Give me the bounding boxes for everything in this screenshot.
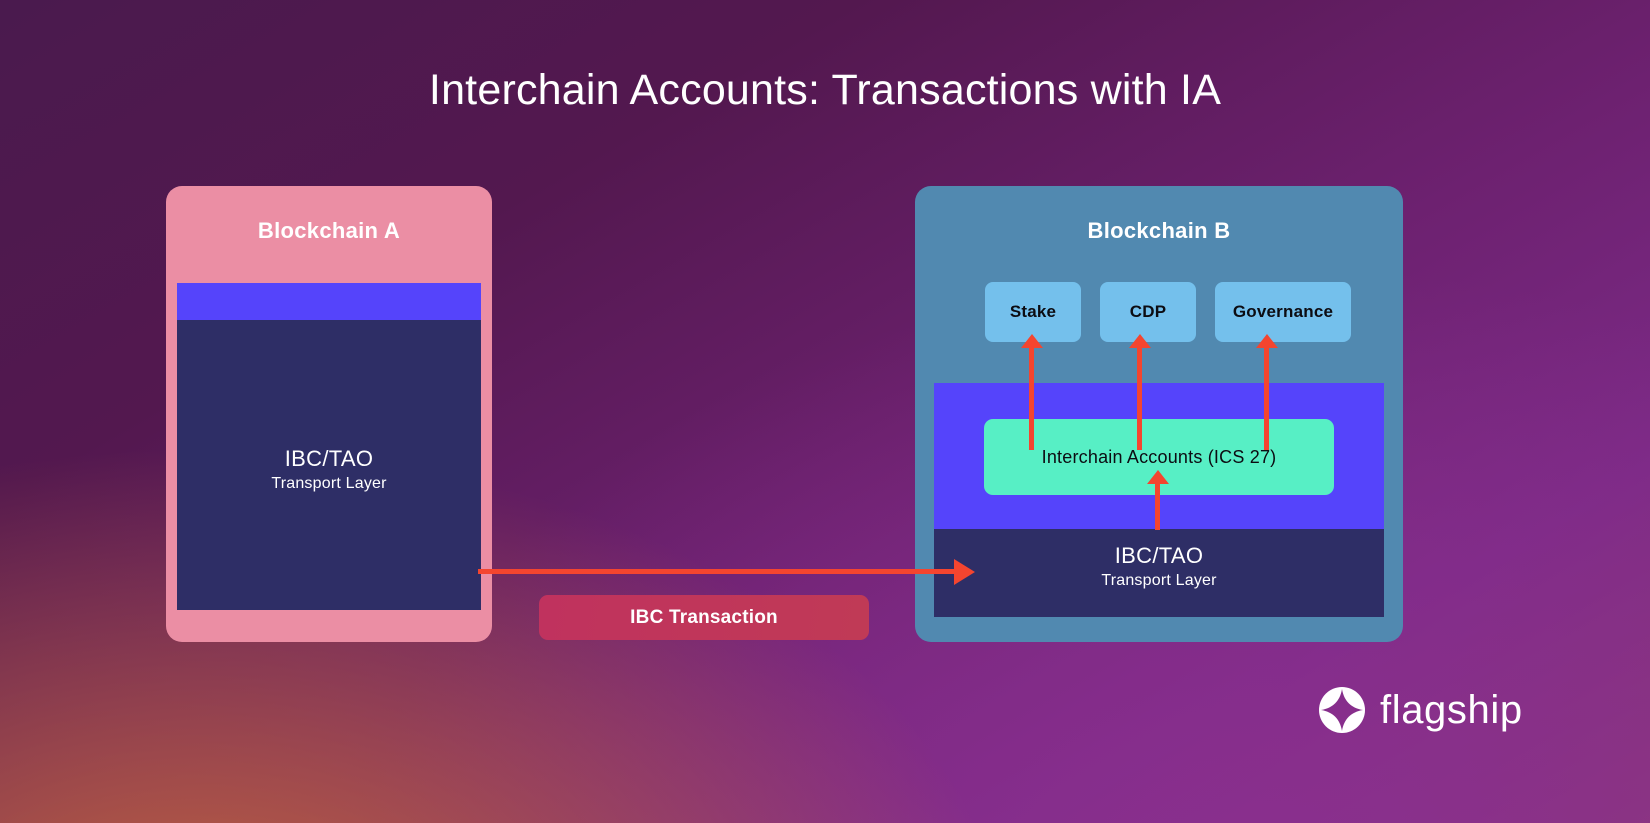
blockchain-a-card: Blockchain A IBC/TAO Transport Layer: [166, 186, 492, 642]
blockchain-a-transport-block: IBC/TAO Transport Layer: [177, 320, 481, 610]
blockchain-b-title: Blockchain B: [915, 218, 1403, 244]
blockchain-b-card: Blockchain B Stake CDP Governance Interc…: [915, 186, 1403, 642]
blockchain-a-title: Blockchain A: [166, 218, 492, 244]
diagram-canvas: Interchain Accounts: Transactions with I…: [0, 0, 1650, 823]
blockchain-a-transport-text: IBC/TAO Transport Layer: [177, 445, 481, 495]
arrow-transport-to-ics-icon: [1155, 483, 1160, 530]
module-governance[interactable]: Governance: [1215, 282, 1351, 342]
page-title: Interchain Accounts: Transactions with I…: [0, 66, 1650, 115]
arrow-ics-to-cdp-icon: [1137, 347, 1142, 450]
flagship-wordmark: flagship: [1380, 690, 1523, 730]
blockchain-b-transport-block: IBC/TAO Transport Layer: [934, 529, 1384, 617]
arrow-chain-a-to-chain-b-line-icon: [478, 569, 966, 574]
blockchain-b-transport-name: IBC/TAO: [934, 542, 1384, 570]
blockchain-b-transport-text: IBC/TAO Transport Layer: [934, 542, 1384, 592]
module-stake[interactable]: Stake: [985, 282, 1081, 342]
blockchain-a-transport-subtitle: Transport Layer: [177, 473, 481, 495]
module-cdp[interactable]: CDP: [1100, 282, 1196, 342]
blockchain-b-module-row: Stake CDP Governance: [934, 282, 1384, 342]
arrow-ics-to-stake-icon: [1029, 347, 1034, 450]
blockchain-a-ibc-layer: [177, 283, 481, 320]
ibc-transaction-label: IBC Transaction: [539, 595, 869, 640]
arrow-ics-to-governance-icon: [1264, 347, 1269, 450]
blockchain-a-transport-name: IBC/TAO: [177, 445, 481, 473]
flagship-logo[interactable]: flagship: [1318, 686, 1523, 734]
blockchain-b-transport-subtitle: Transport Layer: [934, 570, 1384, 592]
arrow-chain-a-to-chain-b-head-icon: [954, 559, 975, 585]
flagship-star-icon: [1318, 686, 1366, 734]
